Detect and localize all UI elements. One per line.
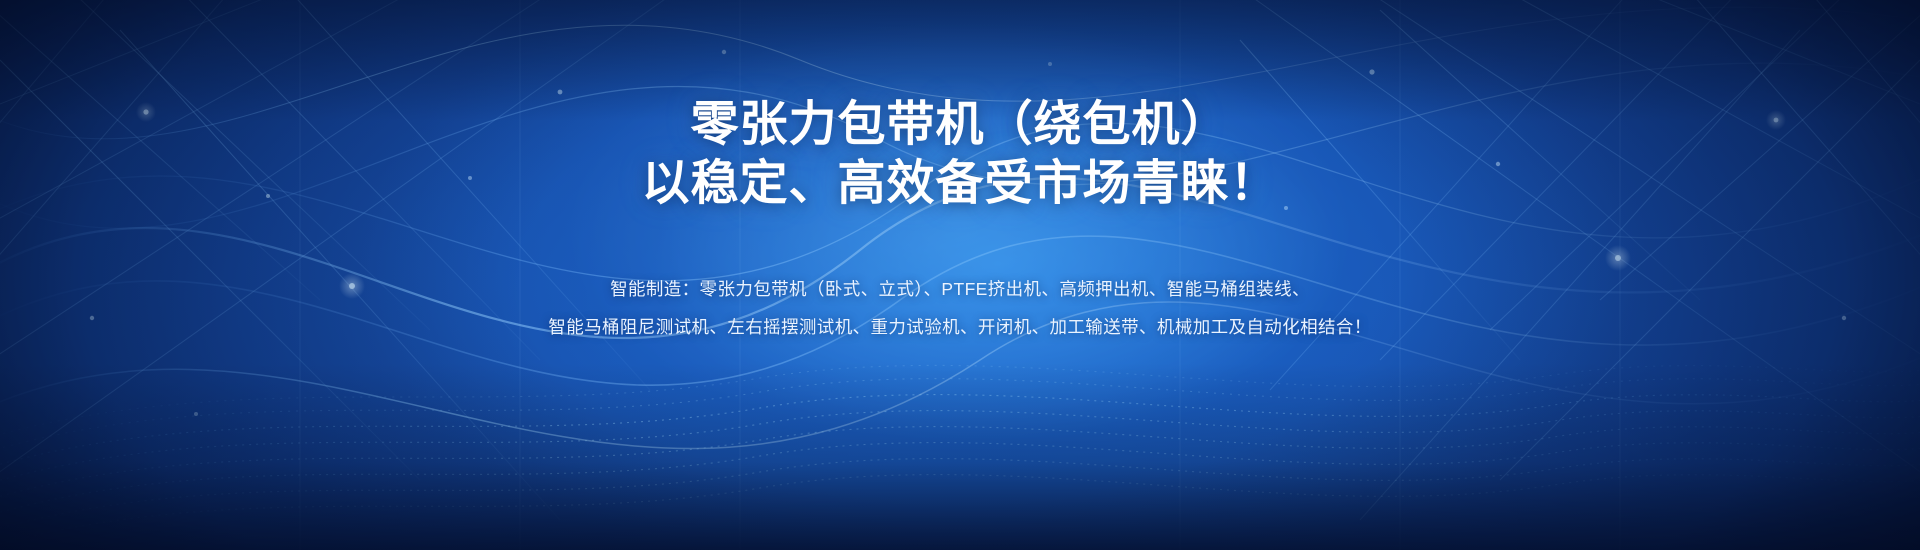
hero-banner: 零张力包带机（绕包机） 以稳定、高效备受市场青睐！ 智能制造：零张力包带机（卧式… [0, 0, 1920, 550]
banner-title-line-2: 以稳定、高效备受市场青睐！ [641, 155, 1278, 214]
banner-subtitle-line-2: 智能马桶阻尼测试机、左右摇摆测试机、重力试验机、开闭机、加工输送带、机械加工及自… [548, 309, 1371, 347]
banner-title: 零张力包带机（绕包机） 以稳定、高效备受市场青睐！ [641, 96, 1278, 213]
banner-subtitle: 智能制造：零张力包带机（卧式、立式）、PTFE挤出机、高频押出机、智能马桶组装线… [548, 271, 1371, 346]
banner-content: 零张力包带机（绕包机） 以稳定、高效备受市场青睐！ 智能制造：零张力包带机（卧式… [0, 0, 1920, 550]
banner-title-line-1: 零张力包带机（绕包机） [690, 98, 1229, 151]
banner-subtitle-line-1: 智能制造：零张力包带机（卧式、立式）、PTFE挤出机、高频押出机、智能马桶组装线… [610, 279, 1310, 299]
